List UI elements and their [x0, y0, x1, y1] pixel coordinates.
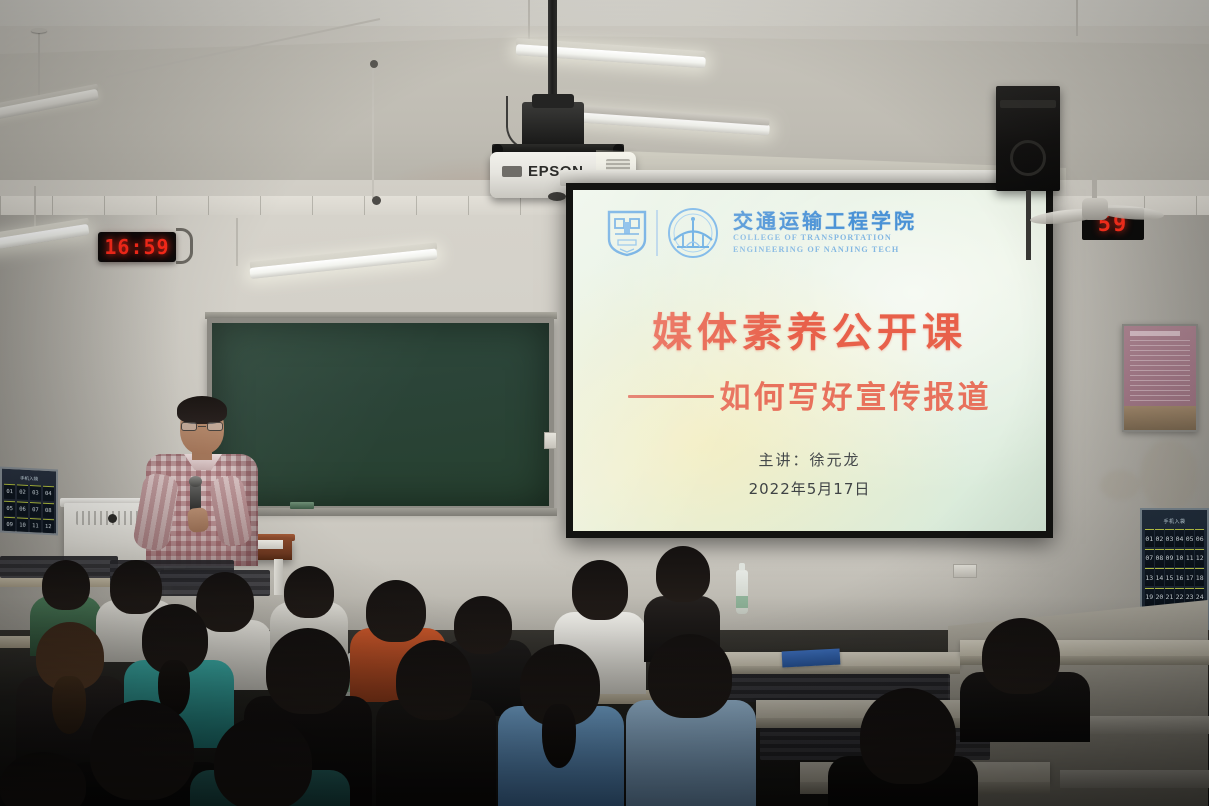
wall-scuff: [1140, 440, 1198, 510]
ceiling-sensor-icon: [372, 196, 381, 205]
wall-outlet-plate[interactable]: [953, 564, 977, 578]
student-head: [860, 688, 956, 784]
logo-english-line1: COLLEGE OF TRANSPORTATION: [733, 233, 917, 244]
student-head: [110, 560, 162, 614]
presenter-hand: [187, 507, 209, 533]
pocket-chart-cell[interactable]: 11: [1185, 549, 1194, 567]
step: [1060, 770, 1209, 788]
student-head: [366, 580, 426, 642]
left-sign-cell[interactable]: 07: [30, 502, 41, 518]
student-head: [982, 618, 1060, 694]
slide-presenter-line: 主讲：徐元龙: [573, 449, 1046, 470]
pocket-chart-cell[interactable]: 14: [1155, 568, 1164, 586]
pocket-chart-cell[interactable]: 04: [1175, 529, 1184, 547]
left-sign-cell[interactable]: 06: [17, 501, 28, 517]
left-sign-cell[interactable]: 09: [4, 517, 15, 533]
fan-rod: [1092, 170, 1097, 200]
pocket-chart-cell[interactable]: 01: [1145, 529, 1154, 547]
logo-chinese-name: 交通运输工程学院: [733, 211, 917, 232]
student-head: [656, 546, 710, 602]
student-ponytail: [52, 676, 86, 734]
left-sign-cell[interactable]: 11: [30, 518, 41, 534]
poster-image: [1124, 406, 1196, 430]
light-rod: [528, 0, 530, 40]
student-ponytail: [542, 704, 576, 768]
pocket-chart-cell[interactable]: 02: [1155, 529, 1164, 547]
student-head: [648, 634, 732, 718]
pocket-chart-title: 手机入袋: [1145, 513, 1204, 529]
pocket-chart-cell[interactable]: 13: [1145, 568, 1154, 586]
glasses-icon: [181, 422, 223, 431]
pocket-chart-cell[interactable]: 21: [1165, 588, 1174, 606]
left-sign-cell[interactable]: 02: [17, 484, 28, 500]
presenter: [140, 396, 270, 566]
pocket-chart-cell[interactable]: 06: [1195, 529, 1204, 547]
projector-cables: [506, 96, 548, 150]
ceiling-conduit: [372, 64, 374, 198]
lecture-hall-photo: EPSON: [0, 0, 1209, 806]
left-sign-cell[interactable]: 03: [30, 485, 41, 501]
led-clock-left: 16:59: [98, 232, 176, 262]
water-bottle[interactable]: [736, 570, 748, 614]
pocket-chart-cell[interactable]: 07: [1145, 549, 1154, 567]
left-sign-cell[interactable]: 10: [17, 517, 28, 533]
logo-divider: [656, 210, 658, 256]
pocket-chart-cell[interactable]: 10: [1175, 549, 1184, 567]
pocket-chart-cell[interactable]: 15: [1165, 568, 1174, 586]
speaker-cone-icon: [1010, 140, 1046, 176]
left-sign-cell[interactable]: 04: [43, 486, 54, 502]
projector-lens-icon: [548, 192, 566, 201]
clock-bracket: [176, 228, 193, 264]
slide-logo: 交通运输工程学院 COLLEGE OF TRANSPORTATION ENGIN…: [607, 207, 917, 259]
poster-text-lines: [1130, 340, 1190, 402]
pocket-chart-cell[interactable]: 08: [1155, 549, 1164, 567]
presenter-hair: [177, 396, 227, 424]
slide-subtitle-row: 如何写好宣传报道: [573, 372, 1046, 417]
university-shield-icon: [607, 209, 647, 257]
chalk-eraser[interactable]: [290, 502, 314, 509]
led-clock-left-digits: 16:59: [104, 235, 169, 259]
bridge-seal-icon: [667, 207, 719, 259]
subtitle-dash-icon: [628, 395, 714, 398]
wall-scuff: [1100, 470, 1140, 500]
student-head: [214, 716, 312, 806]
pocket-chart-cell[interactable]: 19: [1145, 588, 1154, 606]
slide-date-line: 2022年5月17日: [573, 478, 1046, 499]
projector-ir-icon: [502, 166, 522, 177]
table-leg: [274, 559, 283, 595]
pocket-chart-cell[interactable]: 12: [1195, 549, 1204, 567]
left-sign-cell[interactable]: 08: [43, 502, 54, 518]
projection-screen[interactable]: 交通运输工程学院 COLLEGE OF TRANSPORTATION ENGIN…: [566, 183, 1053, 538]
ceiling-fan: [1038, 198, 1158, 236]
left-wall-sign: 手机入袋 010203040506070809101112: [0, 466, 58, 535]
desk-edge: [700, 666, 960, 674]
poster-heading: [1130, 331, 1180, 336]
left-sign-grid: 010203040506070809101112: [4, 484, 54, 535]
pocket-chart-cell[interactable]: 05: [1185, 529, 1194, 547]
student-head: [572, 560, 628, 620]
notebook[interactable]: [782, 648, 841, 667]
left-sign-cell[interactable]: 12: [43, 519, 54, 535]
student-head: [42, 560, 90, 610]
podium-knob[interactable]: [108, 514, 117, 523]
pocket-chart-cell[interactable]: 20: [1155, 588, 1164, 606]
pocket-chart-cell[interactable]: 16: [1175, 568, 1184, 586]
fan-hub: [1082, 198, 1108, 220]
student-head: [396, 640, 472, 720]
slide-subtitle: 如何写好宣传报道: [720, 372, 992, 417]
left-sign-cell[interactable]: 01: [4, 484, 15, 500]
light-rod-cap: [31, 28, 47, 33]
presentation-slide: 交通运输工程学院 COLLEGE OF TRANSPORTATION ENGIN…: [573, 190, 1046, 531]
wall-poster: [1122, 324, 1198, 432]
wall-speaker: [996, 86, 1060, 191]
pocket-chart-cell[interactable]: 09: [1165, 549, 1174, 567]
bottle-label: [736, 596, 748, 608]
pocket-chart-cell[interactable]: 18: [1195, 568, 1204, 586]
light-rod: [1076, 0, 1078, 36]
logo-english-line2: ENGINEERING OF NANJING TECH: [733, 245, 917, 256]
light-rod: [236, 218, 238, 266]
student-head: [454, 596, 512, 654]
pocket-chart-cell[interactable]: 03: [1165, 529, 1174, 547]
wall-light-switch[interactable]: [544, 432, 557, 449]
student-head: [284, 566, 334, 618]
ceiling-sensor-icon: [370, 60, 378, 68]
pocket-chart-cell[interactable]: 17: [1185, 568, 1194, 586]
student-head: [266, 628, 350, 714]
slide-main-title: 媒体素养公开课: [573, 300, 1046, 358]
student-head: [90, 700, 194, 800]
speaker-bracket: [1026, 190, 1031, 260]
left-sign-cell[interactable]: 05: [4, 500, 15, 516]
